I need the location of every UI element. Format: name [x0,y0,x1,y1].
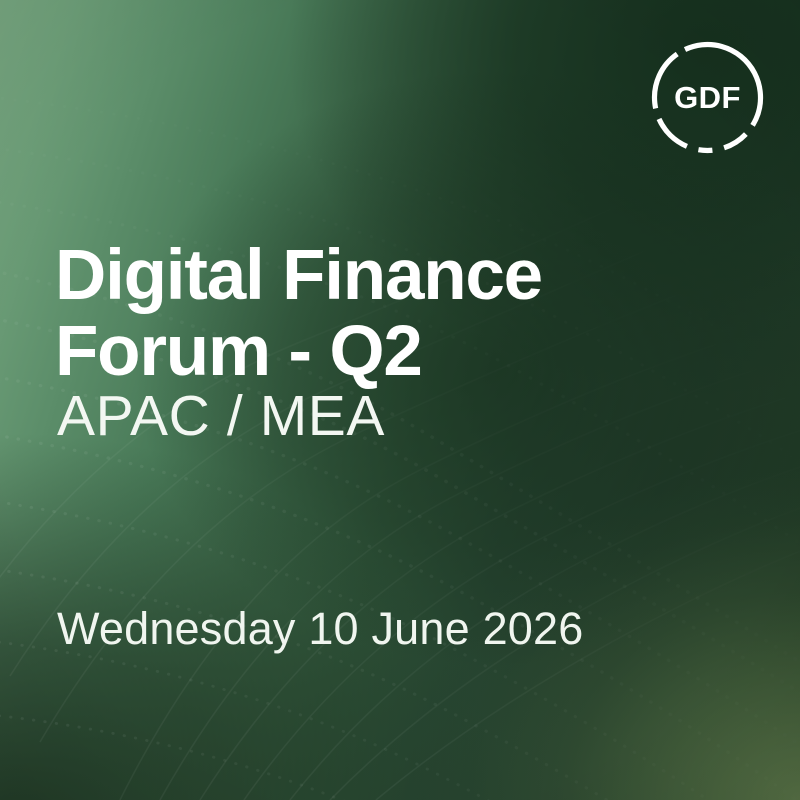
event-date: Wednesday 10 June 2026 [57,602,757,656]
gdf-logo[interactable]: GDF [649,39,766,156]
page-subtitle: APAC / MEA [57,383,757,449]
logo-initials: GDF [649,39,766,156]
page-title: Digital Finance Forum - Q2 [55,238,755,390]
event-promo-card: GDF Digital Finance Forum - Q2 APAC / ME… [0,0,800,800]
